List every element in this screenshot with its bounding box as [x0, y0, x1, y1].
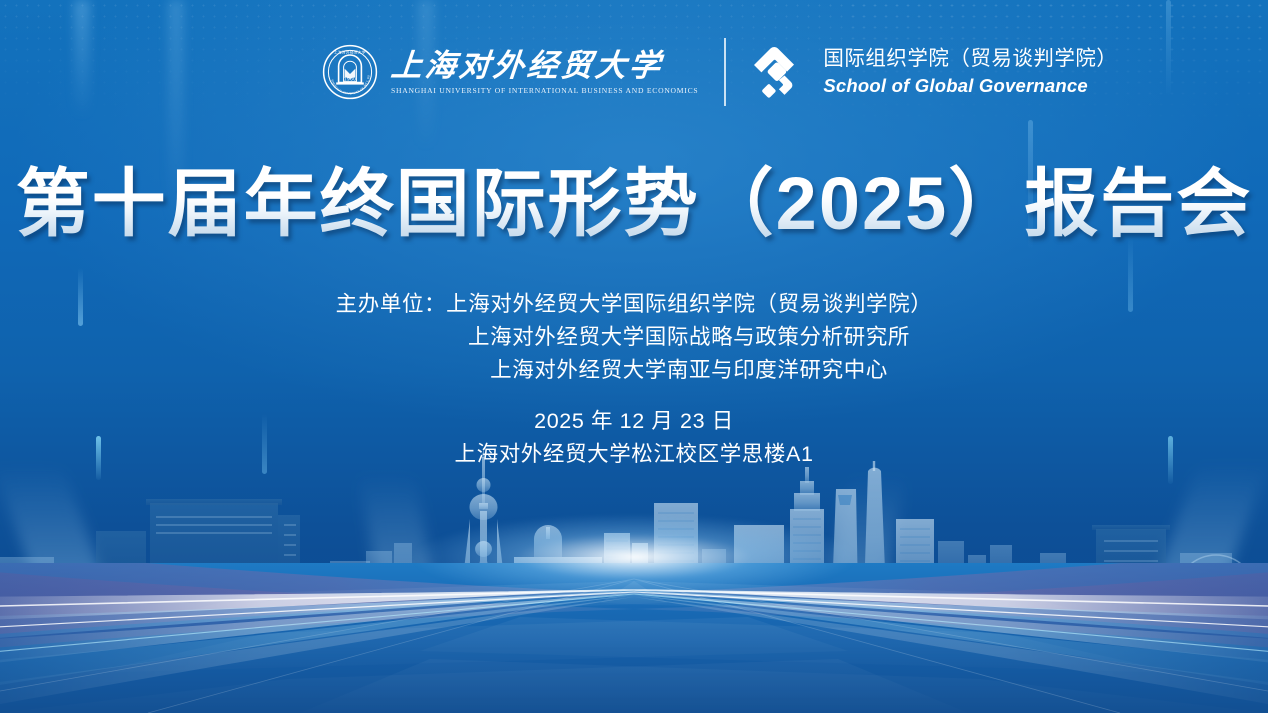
university-seal-icon: 1960 上海对外经贸大学 SHANGHAI UNIVERSITY OF INT… [322, 44, 378, 100]
school-name-cn: 国际组织学院（贸易谈判学院） [823, 47, 1117, 72]
light-trail-perspective-ground [0, 563, 1268, 713]
organizer-line: 上海对外经贸大学南亚与印度洋研究中心 [380, 354, 888, 387]
school-name-block: 国际组织学院（贸易谈判学院） School of Global Governan… [823, 47, 1117, 97]
university-name-en: SHANGHAI UNIVERSITY OF INTERNATIONAL BUS… [391, 86, 698, 95]
svg-text:1960: 1960 [344, 76, 357, 82]
organizer-line: 主办单位：上海对外经贸大学国际组织学院（贸易谈判学院） [336, 288, 933, 321]
organizers-block: 主办单位：上海对外经贸大学国际组织学院（贸易谈判学院） 上海对外经贸大学国际战略… [0, 288, 1268, 387]
event-date: 2025 年 12 月 23 日 [0, 405, 1268, 437]
poster-canvas: 1960 上海对外经贸大学 SHANGHAI UNIVERSITY OF INT… [0, 0, 1268, 713]
vertical-divider [724, 38, 726, 106]
school-name-en: School of Global Governance [823, 75, 1117, 97]
page-title: 第十届年终国际形势（2025）报告会 [0, 163, 1268, 244]
university-name-block: 上海对外经贸大学 SHANGHAI UNIVERSITY OF INTERNAT… [391, 49, 698, 95]
school-of-global-governance-logo-icon [750, 41, 808, 103]
university-name-cn: 上海对外经贸大学 [390, 49, 700, 82]
school-logo-block: 国际组织学院（贸易谈判学院） School of Global Governan… [750, 41, 1117, 103]
poster-header: 1960 上海对外经贸大学 SHANGHAI UNIVERSITY OF INT… [0, 34, 1268, 110]
organizer-line: 上海对外经贸大学国际战略与政策分析研究所 [358, 321, 910, 354]
svg-text:上海对外经贸大学: 上海对外经贸大学 [334, 50, 366, 55]
logo-group: 1960 上海对外经贸大学 SHANGHAI UNIVERSITY OF INT… [322, 34, 1117, 110]
